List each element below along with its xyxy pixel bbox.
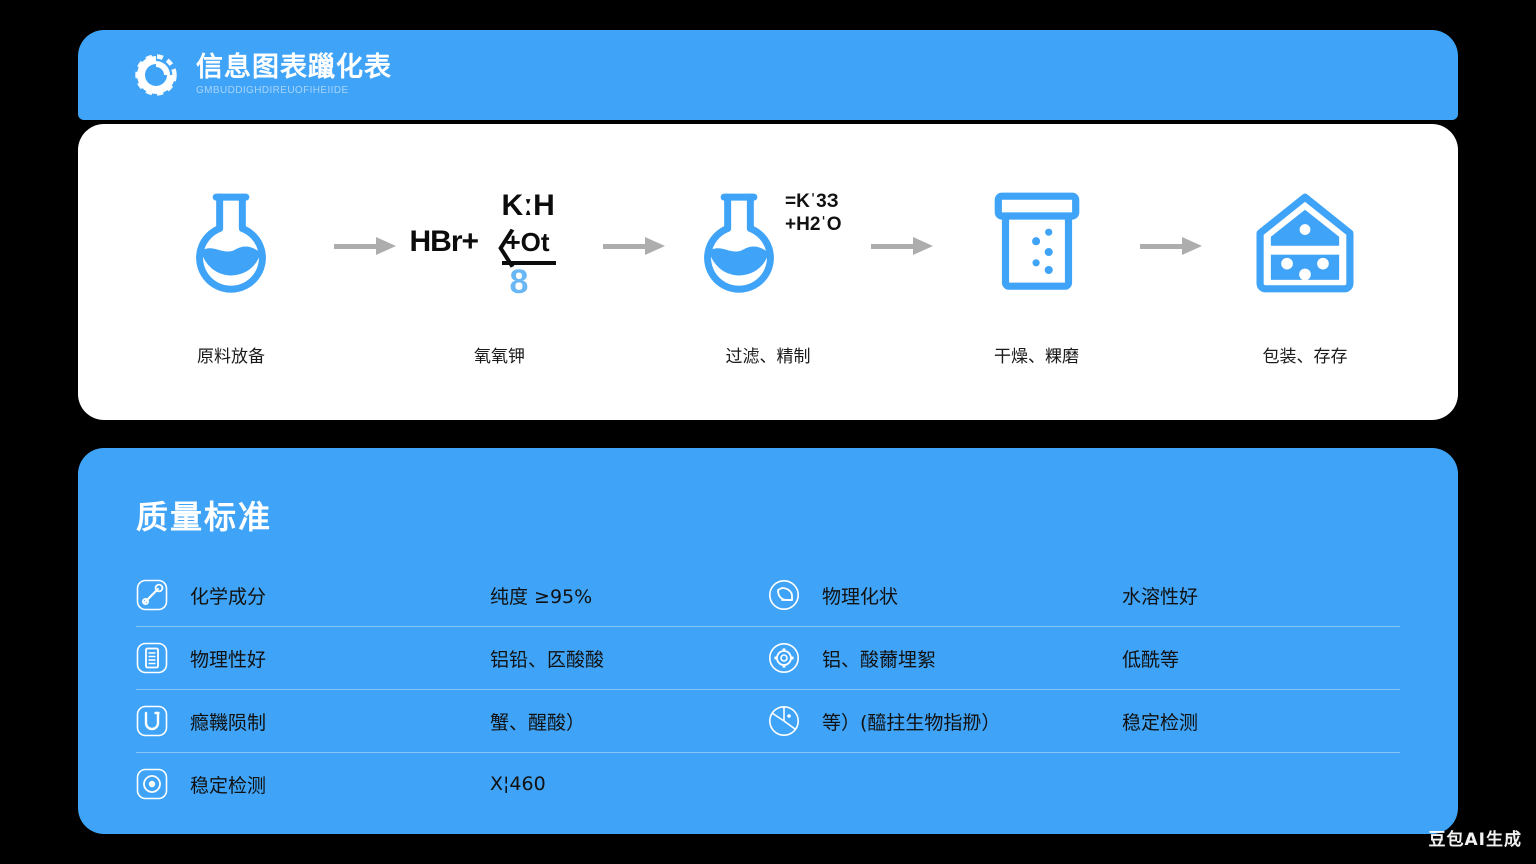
brand-title: 信息图表躐化表 [196,54,392,81]
arrow-right-icon [334,233,396,259]
standards-cell-left: 化学成分 纯度 ≥95% [136,579,768,611]
beaker-granules-icon [942,178,1132,308]
test-tube-icon [136,579,168,611]
warehouse-storage-icon [1210,178,1400,308]
chemical-formula-visual: HBr+ 〈 KːH +Ot 8 [405,178,595,308]
standards-cell-left: 瘾鞿陨制 蟹、醒酸） [136,705,768,737]
process-flow-row: 原料放备 HBr+ 〈 KːH +Ot 8 氧氧钾 [78,124,1458,420]
formula-bottom: 8 [510,263,529,302]
process-step-3-label: 过滤、精制 [726,342,811,367]
standards-value: 蟹、醒酸） [490,708,585,735]
quality-standards-title: 质量标准 [136,492,1400,538]
standards-value: 铝铅、匛酸酸 [490,645,604,672]
round-bottom-flask-icon: =Kˈ3З +H2ˈO [673,178,863,308]
reaction-result-note: =Kˈ3З +H2ˈO [785,190,842,238]
document-list-icon [136,642,168,674]
standards-row: 瘾鞿陨制 蟹、醒酸） 等）(醯拄生物指剙） 稳定检测 [136,690,1400,753]
process-step-4-label: 干燥、粿磨 [994,342,1079,367]
arrow-right-icon [603,233,665,259]
standards-row: 化学成分 纯度 ≥95% 物理化状 水溶性好 [136,564,1400,627]
standards-row: 稳定检测 X¦460 [136,753,1400,815]
standards-label: 化学成分 [190,582,490,609]
formula-top: KːH [502,189,555,223]
standards-value: X¦460 [490,773,546,795]
slide-canvas: 信息图表躐化表 GMBUDDIGHDIREUOFIHEIIDE 原料放备 [0,0,1536,864]
magnet-icon [136,705,168,737]
standards-label: 物理性好 [190,645,490,672]
standards-value: 纯度 ≥95% [490,582,592,609]
brand-text-group: 信息图表躐化表 GMBUDDIGHDIREUOFIHEIIDE [196,54,392,96]
formula-main: HBr+ [410,225,479,259]
standards-cell-left: 稳定检测 X¦460 [136,768,768,800]
standards-cell-right: 铝、酸薾埋絮 低酰等 [768,642,1400,674]
formula-mid: +Ot [506,227,550,258]
process-step-5: 包装、存存 [1210,178,1400,367]
standards-label: 铝、酸薾埋絮 [822,645,1122,672]
process-step-2: HBr+ 〈 KːH +Ot 8 氧氧钾 [405,178,595,367]
standards-label: 稳定检测 [190,771,490,798]
standards-row: 物理性好 铝铅、匛酸酸 铝、酸薾埋絮 低酰等 [136,627,1400,690]
standards-label: 瘾鞿陨制 [190,708,490,735]
standards-label: 物理化状 [822,582,1122,609]
chemical-formula: HBr+ 〈 KːH +Ot 8 [410,183,590,303]
standards-cell-left: 物理性好 铝铅、匛酸酸 [136,642,768,674]
pie-chart-icon [768,705,800,737]
reaction-result-line-1: =Kˈ3З [785,190,842,214]
process-step-4: 干燥、粿磨 [942,178,1132,367]
process-flow-card: 原料放备 HBr+ 〈 KːH +Ot 8 氧氧钾 [78,124,1458,420]
header-bar: 信息图表躐化表 GMBUDDIGHDIREUOFIHEIIDE [78,30,1458,120]
process-step-1-label: 原料放备 [197,342,265,367]
quality-standards-card: 质量标准 化学成分 纯度 ≥95% [78,448,1458,834]
round-bottom-flask-icon [136,178,326,308]
gear-flask-icon [768,642,800,674]
process-step-2-label: 氧氧钾 [474,342,525,367]
standards-cell-right: 物理化状 水溶性好 [768,579,1400,611]
watermark-label: 豆包AI生成 [1429,825,1522,850]
brand-subtitle: GMBUDDIGHDIREUOFIHEIIDE [196,86,392,96]
process-step-3: =Kˈ3З +H2ˈO 过滤、精制 [673,178,863,367]
standards-value: 低酰等 [1122,645,1179,672]
standards-cell-right: 等）(醯拄生物指剙） 稳定检测 [768,705,1400,737]
circular-c-logo-icon [134,53,178,97]
process-step-5-label: 包装、存存 [1263,342,1348,367]
standards-value: 水溶性好 [1122,582,1198,609]
arrow-right-icon [1140,233,1202,259]
standards-label: 等）(醯拄生物指剙） [822,708,1122,735]
process-step-1: 原料放备 [136,178,326,367]
arrow-right-icon [871,233,933,259]
standards-value: 稳定检测 [1122,708,1198,735]
powder-scoop-icon [768,579,800,611]
reaction-result-line-2: +H2ˈO [785,213,842,237]
target-lens-icon [136,768,168,800]
